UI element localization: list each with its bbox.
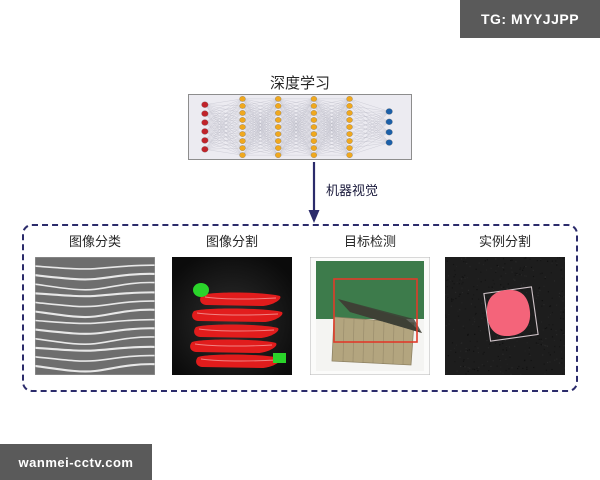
task-panel-object-detection: 目标检测 — [310, 231, 430, 375]
arrow-down-icon — [307, 162, 321, 224]
segmentation-mask-group — [190, 292, 282, 368]
task-label-image-segmentation: 图像分割 — [172, 231, 292, 250]
site-watermark-badge: wanmei-cctv.com — [0, 444, 152, 480]
neural-network-edges — [205, 99, 389, 155]
task-label-object-detection: 目标检测 — [310, 231, 430, 250]
task-image-object-detection — [310, 257, 430, 375]
task-panel-image-classification: 图像分类 — [35, 231, 155, 375]
page-title: 深度学习 — [0, 72, 600, 93]
diagram-canvas: 深度学习 机器视觉 图像分类 图像分割 — [0, 0, 600, 480]
task-panel-instance-segmentation: 实例分割 — [445, 231, 565, 375]
neural-network-panel — [188, 94, 412, 160]
task-image-image-classification — [35, 257, 155, 375]
flow-arrow-label: 机器视觉 — [326, 180, 378, 199]
flow-arrow — [307, 162, 321, 224]
task-image-instance-segmentation — [445, 257, 565, 375]
telegram-watermark-badge: TG: MYYJJPP — [460, 0, 600, 38]
neural-network-graphic — [189, 95, 411, 159]
task-label-instance-segmentation: 实例分割 — [445, 231, 565, 250]
task-panel-image-segmentation: 图像分割 — [172, 231, 292, 375]
task-image-image-segmentation — [172, 257, 292, 375]
task-label-image-classification: 图像分类 — [35, 231, 155, 250]
